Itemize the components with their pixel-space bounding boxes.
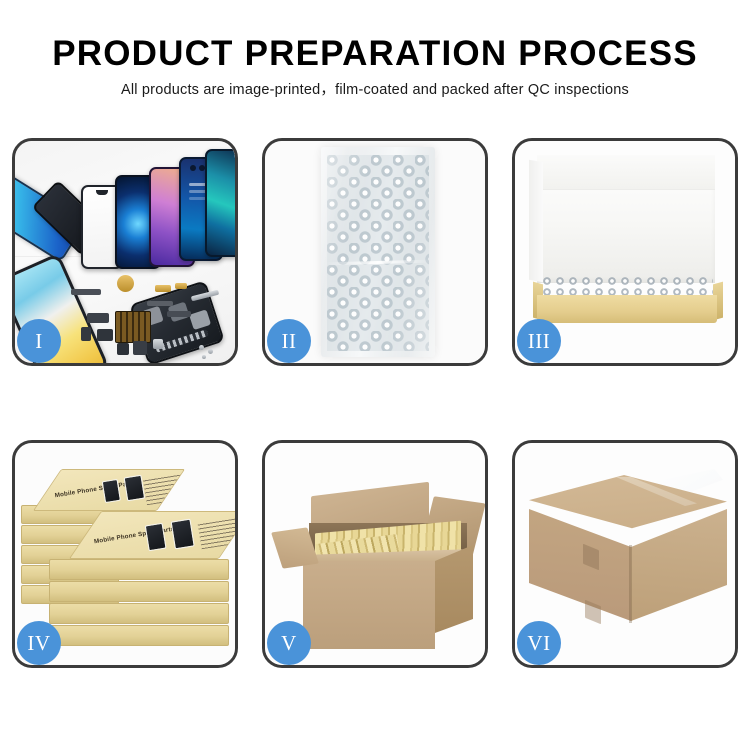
part-vibrator	[133, 341, 147, 355]
step-badge-4: IV	[17, 621, 61, 665]
part-antenna-flex	[167, 311, 191, 317]
stack-box-r2	[49, 581, 229, 602]
box-window-3	[145, 523, 167, 551]
steps-grid: I II	[12, 138, 738, 668]
carton-front-panel	[303, 561, 435, 649]
carton-left-panel	[529, 509, 631, 621]
box-window-4	[171, 519, 195, 550]
step-panel-5[interactable]: V	[262, 440, 488, 668]
part-module-b	[81, 327, 91, 341]
step-panel-4[interactable]: Mobile Phone Spare Parts Mobile Phone Sp…	[12, 440, 238, 668]
header: PRODUCT PREPARATION PROCESS All products…	[0, 34, 750, 99]
bubble-wrapped-product	[321, 147, 435, 357]
carton-vertical-edge	[629, 545, 632, 623]
step-badge-1: I	[17, 319, 61, 363]
page-title: PRODUCT PREPARATION PROCESS	[0, 34, 750, 74]
top-box-back-lid: Mobile Phone Spare Parts	[33, 469, 185, 511]
carton-right-panel	[631, 509, 727, 621]
open-shipping-carton	[281, 483, 477, 653]
product-preparation-infographic: PRODUCT PREPARATION PROCESS All products…	[0, 0, 750, 750]
inner-box-front-panel	[537, 295, 717, 323]
part-screw-plate	[153, 339, 163, 349]
phone-display-teal	[205, 149, 235, 257]
step-panel-2[interactable]: II	[262, 138, 488, 366]
stack-box-r4	[49, 625, 229, 646]
part-screw-2	[208, 349, 213, 354]
part-screw-1	[199, 345, 204, 350]
step-panel-1[interactable]: I	[12, 138, 238, 366]
box-stack: Mobile Phone Spare Parts Mobile Phone Sp…	[21, 463, 231, 653]
sealed-shipping-carton	[529, 475, 727, 635]
part-gold-clip	[175, 283, 187, 289]
part-tool-tweezers	[191, 290, 219, 302]
box-spec-lines-2	[198, 517, 235, 550]
part-gold-connector	[155, 285, 171, 292]
stack-box-r3	[49, 603, 229, 624]
part-flex-strip	[147, 301, 173, 306]
step-badge-2: II	[267, 319, 311, 363]
part-speaker-coil	[117, 275, 134, 292]
part-module-c	[97, 329, 113, 341]
page-subtitle: All products are image-printed，film-coat…	[0, 81, 750, 99]
step-badge-5: V	[267, 621, 311, 665]
step-panel-6[interactable]: VI	[512, 440, 738, 668]
box-window-1	[102, 479, 121, 503]
stack-box-r1	[49, 559, 229, 580]
bubble-wrap-highlight	[321, 147, 435, 357]
part-module-a	[87, 313, 109, 323]
box-label-text: Mobile Phone Spare Parts	[54, 480, 135, 500]
box-spec-lines-1	[143, 473, 185, 506]
part-camera-module	[117, 343, 129, 355]
step-badge-6: VI	[517, 621, 561, 665]
part-ribbon-cable	[71, 289, 101, 295]
step-badge-3: III	[517, 319, 561, 363]
part-contact-pad-grid	[115, 311, 151, 343]
part-screw-3	[202, 355, 206, 359]
spare-parts-cluster	[71, 267, 223, 361]
inner-box	[533, 277, 723, 323]
step-panel-3[interactable]: III	[512, 138, 738, 366]
foam-sheet	[537, 155, 715, 283]
